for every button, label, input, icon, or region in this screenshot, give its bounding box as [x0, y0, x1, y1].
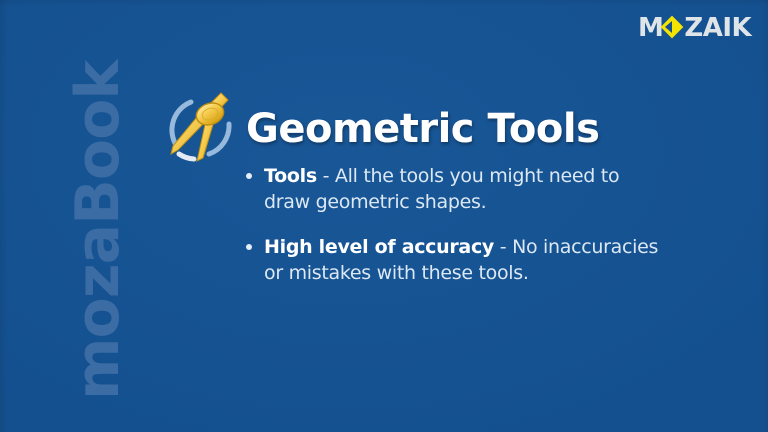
list-item-body: All the tools you might need to draw geo…	[264, 165, 619, 213]
mozaik-logo: M ZAIK	[638, 15, 751, 41]
compass-icon	[163, 88, 243, 164]
mozabook-watermark-label: mozaBook	[68, 61, 128, 400]
list-item-separator: -	[323, 165, 335, 187]
bullet-dot-icon	[246, 173, 252, 179]
mozabook-watermark: mozaBook	[0, 0, 140, 432]
list-item: High level of accuracy - No inaccuracies…	[240, 234, 670, 286]
mozaik-logo-text-after: ZAIK	[684, 15, 751, 41]
presentation-slide: M ZAIK mozaBook	[0, 0, 768, 432]
diamond-icon	[663, 16, 684, 40]
list-item: Tools - All the tools you might need to …	[240, 163, 670, 215]
list-item-term: High level of accuracy	[264, 236, 494, 258]
mozaik-logo-text-before: M	[638, 15, 663, 41]
bullet-dot-icon	[246, 244, 252, 250]
feature-list: Tools - All the tools you might need to …	[240, 163, 670, 286]
page-title: Geometric Tools	[246, 106, 599, 152]
list-item-term: Tools	[264, 165, 317, 187]
list-item-separator: -	[500, 236, 512, 258]
